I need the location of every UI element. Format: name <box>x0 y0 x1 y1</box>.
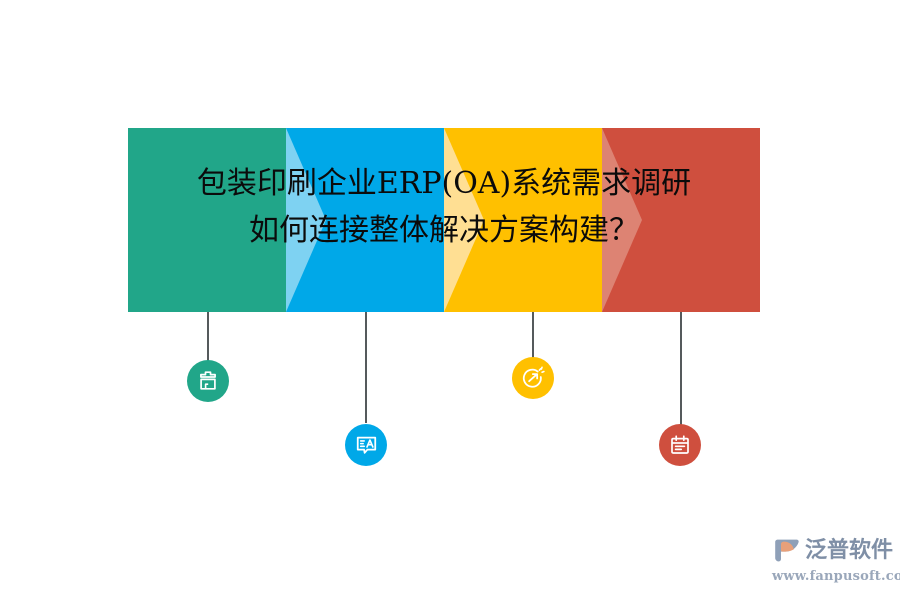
node-growth[interactable] <box>512 357 554 399</box>
chevron-triangle-icon <box>444 128 484 312</box>
growth-icon <box>521 366 546 391</box>
brand-logo: 泛普软件 www.fanpusoft.com <box>772 534 892 588</box>
logo-brand-name: 泛普软件 <box>805 536 893 566</box>
connector-line-4 <box>680 312 682 425</box>
chevron-triangle-icon <box>128 128 168 312</box>
banner-chevron-bar <box>128 128 760 312</box>
banner-band-red <box>602 128 760 312</box>
shop-icon <box>196 369 220 393</box>
banner-band-yellow <box>444 128 602 312</box>
fanpu-logo-mark-icon <box>772 536 802 566</box>
logo-website-url: www.fanpusoft.com <box>772 569 892 584</box>
chevron-triangle-icon <box>602 128 642 312</box>
chevron-triangle-icon <box>286 128 326 312</box>
connector-line-2 <box>365 312 367 423</box>
node-shop[interactable] <box>187 360 229 402</box>
calendar-icon <box>668 433 692 457</box>
poster-canvas: 包装印刷企业ERP(OA)系统需求调研 如何连接整体解决方案构建？ <box>0 0 900 600</box>
banner-band-teal <box>128 128 286 312</box>
banner-band-blue <box>286 128 444 312</box>
node-translate[interactable] <box>345 424 387 466</box>
node-calendar[interactable] <box>659 424 701 466</box>
translate-icon <box>354 433 379 458</box>
